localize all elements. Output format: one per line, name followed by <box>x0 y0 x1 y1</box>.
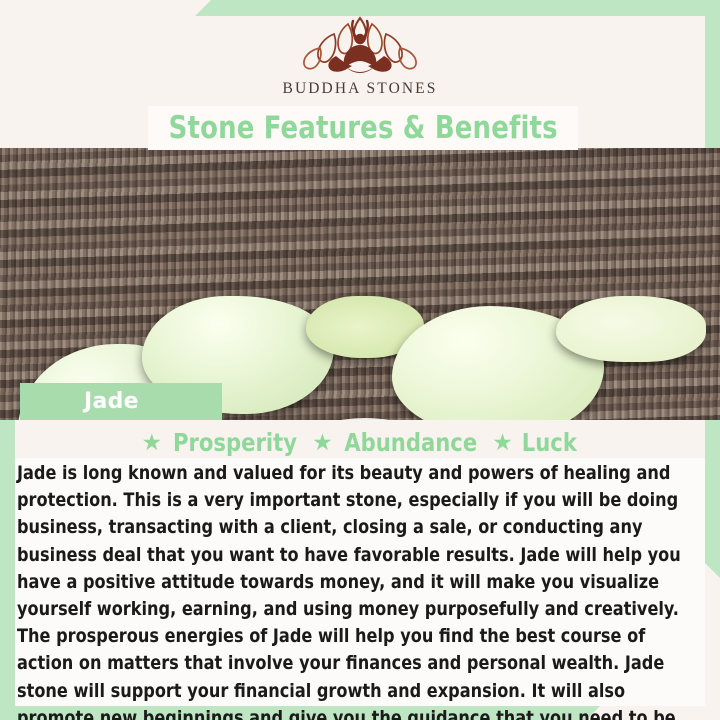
star-icon: ★ <box>142 431 163 454</box>
keyword-label: Prosperity <box>173 428 297 457</box>
stone-name-label: Jade <box>84 389 139 414</box>
keyword-label: Luck <box>522 428 577 457</box>
description-text: Jade is long known and valued for its be… <box>17 460 683 720</box>
stone-shape <box>556 296 706 362</box>
page-title: Stone Features & Benefits <box>148 106 578 150</box>
stone-photo <box>0 148 720 420</box>
keyword-list: ★ Prosperity ★ Abundance ★ Luck <box>0 428 720 457</box>
star-icon: ★ <box>312 431 333 454</box>
lotus-meditation-icon <box>296 12 424 78</box>
star-icon: ★ <box>492 431 513 454</box>
stone-info-card: BUDDHA STONES Stone Features & Benefits … <box>0 0 720 720</box>
keyword-item-luck: ★ Luck <box>492 428 578 457</box>
stone-name-badge: Jade <box>20 383 222 420</box>
keyword-item-prosperity: ★ Prosperity <box>142 428 302 457</box>
brand-name: BUDDHA STONES <box>283 80 438 98</box>
page-title-text: Stone Features & Benefits <box>168 110 557 146</box>
keyword-item-abundance: ★ Abundance <box>312 428 481 457</box>
keyword-label: Abundance <box>344 428 477 457</box>
brand-logo: BUDDHA STONES <box>0 0 720 108</box>
